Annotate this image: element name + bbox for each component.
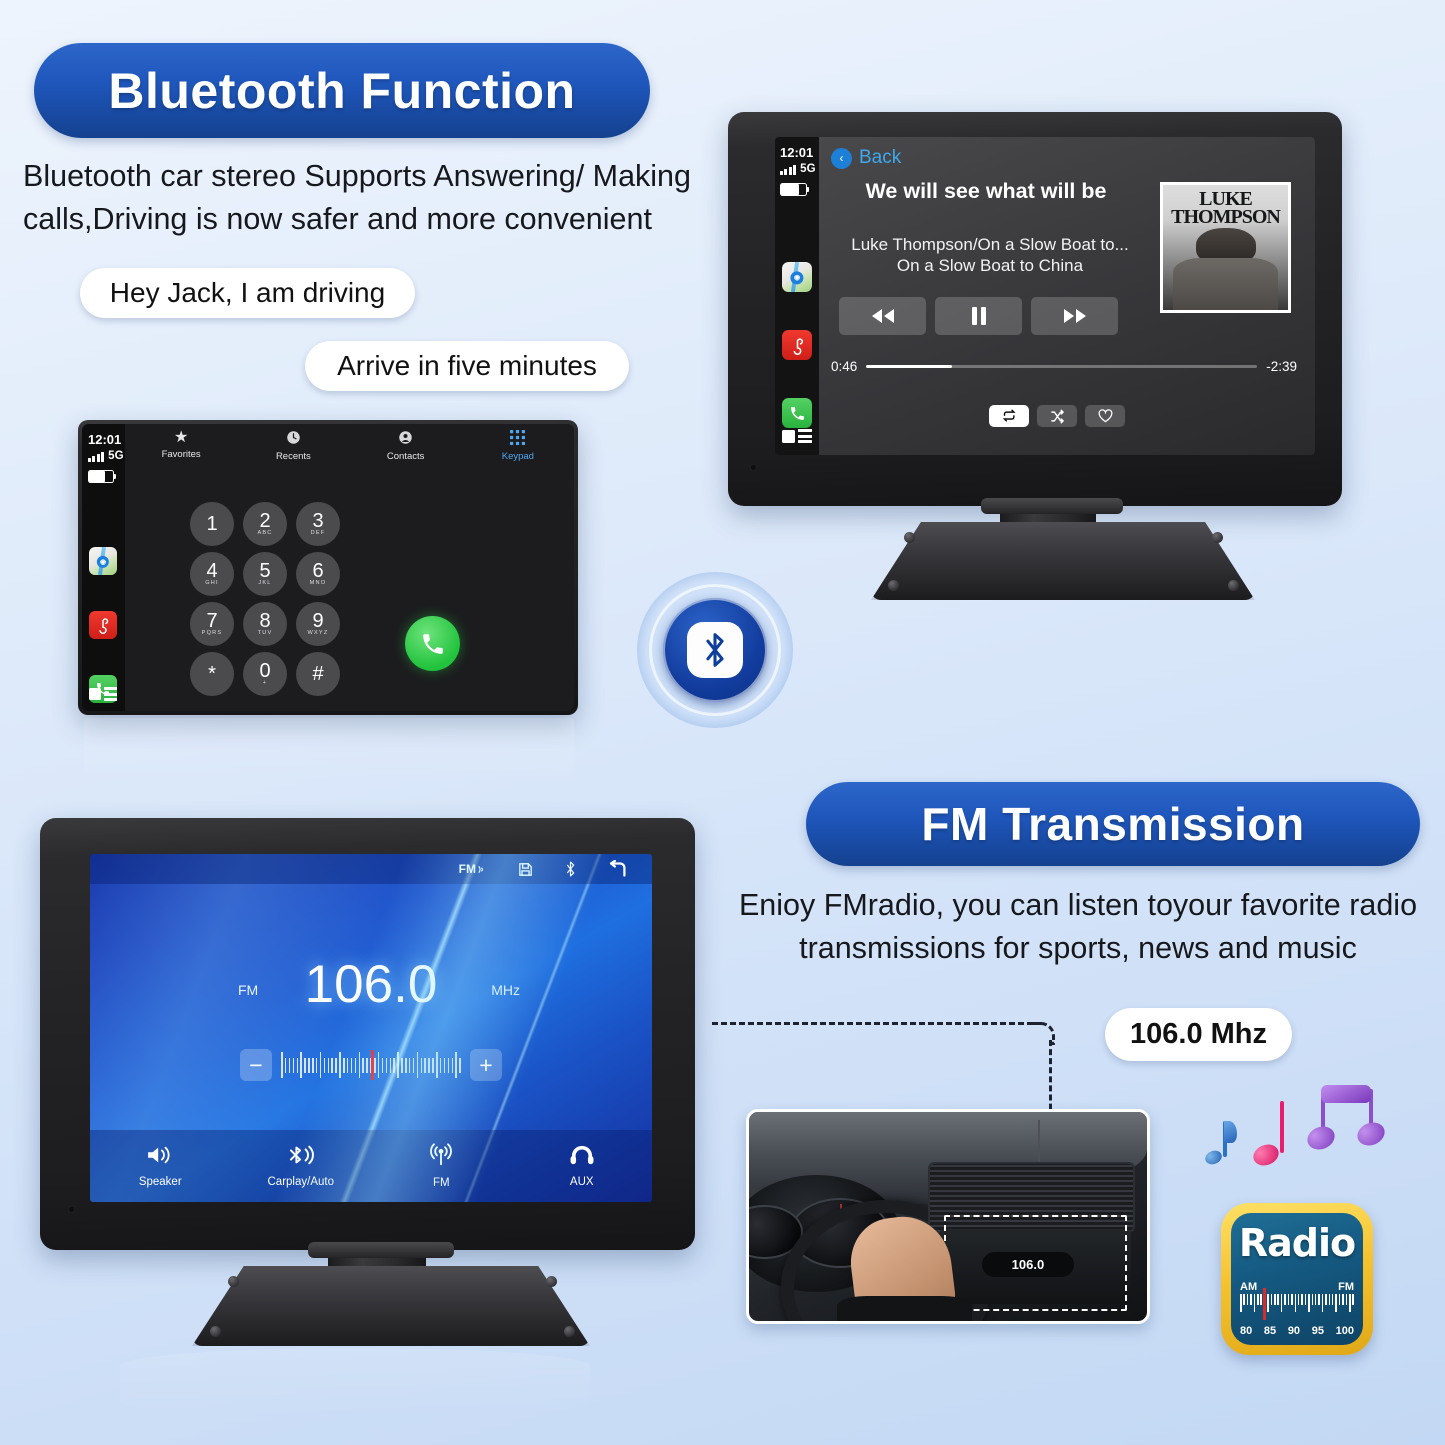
fm-section-title: FM Transmission [806, 782, 1420, 866]
dialpad-key-digit: 5 [259, 562, 270, 580]
radio-dial-tick [1257, 1294, 1259, 1305]
music-notes-decoration [1195, 1085, 1385, 1195]
fm-radio-device: FM 106.0 FM MHz − + [40, 818, 700, 1338]
track-subtitle-2: On a Slow Boat to China [825, 256, 1155, 276]
tuner-tick [328, 1058, 330, 1073]
tuner-tick [440, 1058, 442, 1073]
tab-favorites[interactable]: ★ Favorites [125, 430, 237, 462]
radio-dial-tick [1342, 1294, 1344, 1305]
now-playing-icon[interactable] [89, 687, 117, 701]
tuner-tick [405, 1058, 407, 1073]
dialpad-key-digit: 3 [312, 512, 323, 530]
clock-icon [286, 430, 301, 448]
tuner-tick [459, 1058, 461, 1073]
app-icon-netease-music[interactable] [782, 330, 812, 360]
tuner-tick [448, 1058, 450, 1073]
track-subtitle-1: Luke Thompson/On a Slow Boat to... [825, 235, 1155, 255]
progress-track[interactable] [866, 365, 1257, 368]
radio-dial-tick [1288, 1294, 1290, 1305]
monitor-hinge [981, 498, 1123, 514]
dialpad-key-letters: WXYZ [308, 630, 329, 636]
app-icon-maps[interactable]: ◉ [782, 262, 812, 292]
radio-dial-tick [1240, 1294, 1242, 1312]
network-label: 5G [800, 163, 815, 175]
tuner-tick [312, 1058, 314, 1073]
tuner-tick [393, 1058, 395, 1073]
radio-dial-tick [1267, 1294, 1269, 1312]
transport-controls [839, 297, 1118, 335]
tuner-tick [444, 1058, 446, 1073]
ir-sensor [750, 464, 757, 471]
fm-nav-fm[interactable]: FM [371, 1130, 512, 1202]
music-note-pink-icon [1247, 1101, 1299, 1173]
tuner-tick [289, 1058, 291, 1073]
radio-dial-tick [1281, 1294, 1283, 1312]
fast-forward-button[interactable] [1031, 297, 1118, 335]
monitor-base [192, 1266, 590, 1346]
ir-sensor [68, 1206, 75, 1213]
save-icon[interactable] [517, 861, 534, 878]
tuner-tick [359, 1052, 361, 1078]
tuner-tick [382, 1058, 384, 1073]
dialpad-key-0[interactable]: 0+ [243, 652, 287, 696]
radio-dial-tick [1315, 1294, 1317, 1305]
dialpad-key-3[interactable]: 3DEF [296, 502, 340, 546]
radio-dial-scale [1240, 1294, 1354, 1316]
radio-dial-tick [1339, 1294, 1341, 1305]
dialpad-key-hash[interactable]: # [296, 652, 340, 696]
tab-favorites-label: Favorites [162, 449, 201, 460]
fm-unit-label: MHz [491, 982, 520, 998]
back-arrow-icon[interactable] [607, 860, 628, 879]
tuner-tick [413, 1058, 415, 1073]
dialpad-key-5[interactable]: 5JKL [243, 552, 287, 596]
dialpad-key-1[interactable]: 1 [190, 502, 234, 546]
fm-title-text: FM Transmission [921, 797, 1304, 851]
tuner-tick [401, 1058, 403, 1073]
elapsed-time: 0:46 [831, 359, 857, 374]
radio-dial-tick [1295, 1294, 1297, 1312]
fm-nav-speaker-label: Speaker [139, 1176, 182, 1188]
radio-dial-tick [1274, 1294, 1276, 1305]
tab-recents[interactable]: Recents [237, 430, 349, 462]
radio-scale-number: 95 [1312, 1325, 1324, 1337]
radio-am-label: AM [1240, 1281, 1257, 1293]
tuner-tick [417, 1052, 419, 1078]
dialpad-key-letters: DEF [311, 530, 326, 536]
radio-dial-tick [1325, 1294, 1327, 1305]
radio-dial-tick [1277, 1294, 1279, 1305]
radio-scale-number: 100 [1336, 1325, 1354, 1337]
tuner-tick [308, 1058, 310, 1073]
keypad-device: 12:01 5G ◉ [78, 420, 578, 715]
tuner-tick [421, 1058, 423, 1073]
tuner-tick [366, 1058, 368, 1073]
tab-contacts[interactable]: Contacts [350, 430, 462, 462]
radio-dial-tick [1346, 1294, 1348, 1305]
rewind-button[interactable] [839, 297, 926, 335]
fm-monitor-reflection [120, 1348, 590, 1418]
tuner-tick [324, 1058, 326, 1073]
bluetooth-icon [687, 622, 743, 678]
app-icon-phone[interactable] [782, 398, 812, 428]
radio-scale-number: 85 [1264, 1325, 1276, 1337]
fm-tuner: − + [240, 1046, 502, 1084]
tuner-tick [409, 1058, 411, 1073]
dialpad-key-digit: 6 [312, 562, 323, 580]
radio-dial-tick [1301, 1294, 1303, 1305]
album-artist-name: LUKE THOMPSON [1163, 190, 1288, 227]
radio-dial-tick [1335, 1294, 1337, 1312]
tuner-tick [331, 1058, 333, 1073]
dialpad-key-4[interactable]: 4GHI [190, 552, 234, 596]
tuner-tick [386, 1058, 388, 1073]
repeat-button[interactable] [989, 405, 1029, 427]
radio-dial-tick [1352, 1294, 1354, 1305]
fm-nav-aux-label: AUX [570, 1176, 594, 1188]
keypad-tabbar: ★ Favorites Recents Contacts [125, 430, 574, 462]
dialpad-key-letters: PQRS [202, 630, 223, 636]
radio-scale-number: 90 [1288, 1325, 1300, 1337]
tuner-needle [371, 1050, 374, 1080]
fm-nav-speaker[interactable]: Speaker [90, 1130, 231, 1202]
tuner-tick [339, 1052, 341, 1078]
radio-dial-tick [1349, 1294, 1351, 1312]
tuner-tick [432, 1058, 434, 1073]
dialpad-key-letters: JKL [258, 580, 271, 586]
network-label: 5G [108, 450, 123, 462]
bluetooth-badge [637, 572, 793, 728]
tuner-tick [316, 1058, 318, 1073]
car-dashboard-photo: 106.0 [746, 1109, 1150, 1324]
radio-dial-tick [1291, 1294, 1293, 1305]
fm-nav-fm-label: FM [433, 1177, 450, 1189]
carplay-keypad-ui: 12:01 5G ◉ [82, 424, 574, 711]
dialpad-key-8[interactable]: 8TUV [243, 602, 287, 646]
tuner-tick [320, 1052, 322, 1078]
tab-contacts-label: Contacts [387, 451, 425, 462]
tab-keypad-label: Keypad [502, 451, 534, 462]
dialpad-key-6[interactable]: 6MNO [296, 552, 340, 596]
carplay-player-device: 12:01 5G ◉ [728, 112, 1370, 612]
highlight-box [944, 1215, 1127, 1311]
radio-scale-numbers: 80859095100 [1240, 1325, 1354, 1337]
connector-line-horizontal [712, 1022, 1042, 1025]
call-button[interactable] [405, 616, 460, 671]
dialpad-key-7[interactable]: 7PQRS [190, 602, 234, 646]
radio-dial-tick [1298, 1294, 1300, 1305]
music-note-blue-icon [1201, 1121, 1235, 1167]
chevron-left-icon: ‹ [831, 148, 852, 169]
album-artwork: LUKE THOMPSON [1160, 182, 1291, 313]
dialpad-key-letters: TUV [258, 630, 273, 636]
radio-dial-tick [1271, 1294, 1273, 1305]
tuner-tick [378, 1052, 380, 1078]
fm-radio-ui: FM 106.0 FM MHz − + [90, 854, 652, 1202]
remaining-time: -2:39 [1266, 359, 1297, 374]
fm-plus-button[interactable]: + [470, 1049, 502, 1081]
tuner-tick [335, 1058, 337, 1073]
tuner-tick [455, 1052, 457, 1078]
star-icon: ★ [174, 430, 188, 446]
tuner-tick [343, 1058, 345, 1073]
tuner-tick [390, 1058, 392, 1073]
tuner-tick [452, 1058, 454, 1073]
dialpad-key-digit: 2 [259, 512, 270, 530]
fm-antenna-icon [429, 1143, 453, 1172]
battery-icon [780, 183, 807, 196]
fm-band-label: FM [238, 982, 258, 998]
fm-nav-carplay[interactable]: Carplay/Auto [231, 1130, 372, 1202]
carplay-player-ui: 12:01 5G ◉ [775, 137, 1315, 455]
tuner-tick [428, 1058, 430, 1073]
player-options [989, 405, 1125, 427]
radio-dial-tick [1322, 1294, 1324, 1312]
radio-dial-tick [1260, 1294, 1262, 1305]
dialpad: 12ABC3DEF4GHI5JKL6MNO7PQRS8TUV9WXYZ*0+# [190, 502, 340, 696]
fm-screen: FM 106.0 FM MHz − + [90, 854, 652, 1202]
dialpad-key-digit: 9 [312, 612, 323, 630]
heart-button[interactable] [1085, 405, 1125, 427]
radio-dial-tick [1318, 1294, 1320, 1305]
radio-dial-tick [1243, 1294, 1245, 1305]
pause-button[interactable] [935, 297, 1022, 335]
fm-frequency-value: 106.0 [90, 954, 652, 1015]
speaker-icon [146, 1144, 174, 1171]
shuffle-button[interactable] [1037, 405, 1077, 427]
tab-recents-label: Recents [276, 451, 311, 462]
chat-bubble-driving: Hey Jack, I am driving [80, 268, 415, 318]
monitor-base [871, 522, 1255, 600]
dialpad-key-digit: 4 [206, 562, 217, 580]
tuner-tick [300, 1052, 302, 1078]
back-button[interactable]: ‹ Back [831, 147, 901, 169]
bluetooth-wave-icon [286, 1144, 316, 1171]
signal-bars-icon [88, 452, 104, 462]
radio-dial-tick [1284, 1294, 1286, 1305]
radio-dial-tick [1250, 1294, 1252, 1305]
tuner-tick [304, 1058, 306, 1073]
radio-dial-needle [1263, 1288, 1266, 1320]
app-icon-netease-music[interactable] [89, 611, 117, 639]
radio-dial-tick [1254, 1294, 1256, 1312]
dialpad-key-9[interactable]: 9WXYZ [296, 602, 340, 646]
grid-icon [510, 430, 525, 448]
progress-bar[interactable]: 0:46 -2:39 [831, 359, 1297, 374]
dialpad-key-letters: GHI [205, 580, 219, 586]
fm-minus-button[interactable]: − [240, 1049, 272, 1081]
tab-keypad[interactable]: Keypad [462, 430, 574, 462]
tuner-tick [374, 1058, 376, 1073]
dialpad-key-digit: 0 [259, 662, 270, 680]
bluetooth-section-title: Bluetooth Function [34, 43, 650, 138]
bluetooth-icon[interactable] [564, 860, 577, 878]
radio-logo-text: Radio [1239, 1221, 1355, 1265]
dialpad-key-letters: MNO [310, 580, 327, 586]
radio-dial-tick [1305, 1294, 1307, 1305]
player-screen: 12:01 5G ◉ [775, 137, 1315, 455]
signal-bars-icon [780, 165, 796, 175]
tuner-tick [293, 1058, 295, 1073]
dialpad-key-digit: 7 [206, 612, 217, 630]
dialpad-key-digit: 8 [259, 612, 270, 630]
now-playing-icon[interactable] [782, 429, 812, 443]
fm-nav-carplay-label: Carplay/Auto [268, 1176, 334, 1188]
tuner-tick [347, 1058, 349, 1073]
fm-nav-aux[interactable]: AUX [512, 1130, 653, 1202]
bluetooth-title-text: Bluetooth Function [108, 62, 575, 120]
tuner-tick [281, 1052, 283, 1078]
tuner-tick [424, 1058, 426, 1073]
fm-bottom-bar: Speaker Carplay/Auto FM [90, 1130, 652, 1202]
dialpad-key-star[interactable]: * [190, 652, 234, 696]
keypad-screen: 12:01 5G ◉ [82, 424, 574, 711]
keypad-reflection [84, 718, 574, 784]
monitor-hinge [308, 1242, 454, 1258]
dialpad-key-digit: * [208, 665, 216, 683]
bluetooth-description: Bluetooth car stereo Supports Answering/… [23, 155, 723, 242]
status-time: 12:01 [780, 145, 813, 160]
fm-description: Enioy FMradio, you can listen toyour fav… [728, 884, 1428, 971]
tuner-tick [355, 1058, 357, 1073]
tuner-tick [362, 1058, 364, 1073]
chat-bubble-arrive: Arrive in five minutes [305, 341, 629, 391]
fm-tuning-scale[interactable] [281, 1046, 461, 1084]
app-icon-maps[interactable]: ◉ [89, 547, 117, 575]
radio-dial-tick [1312, 1294, 1314, 1305]
headphone-icon [569, 1144, 595, 1171]
tuner-tick [297, 1058, 299, 1073]
status-time: 12:01 [88, 432, 121, 447]
back-label: Back [859, 147, 901, 169]
radio-logo-badge: Radio AM FM 80859095100 [1221, 1203, 1373, 1355]
track-title: We will see what will be [831, 179, 1141, 203]
dialpad-key-digit: 1 [206, 515, 217, 533]
tuner-tick [397, 1052, 399, 1078]
radio-dial-tick [1247, 1294, 1249, 1305]
dialpad-key-letters: ABC [257, 530, 272, 536]
carplay-sidebar-player: 12:01 5G ◉ [775, 137, 819, 455]
radio-scale-number: 80 [1240, 1325, 1252, 1337]
battery-icon [88, 470, 114, 483]
radio-dial-tick [1308, 1294, 1310, 1312]
fm-topbar: FM [90, 854, 652, 884]
dialpad-key-digit: # [312, 665, 323, 683]
radio-fm-label: FM [1338, 1281, 1354, 1293]
person-icon [398, 430, 413, 448]
tuner-tick [351, 1058, 353, 1073]
bluetooth-badge-core [663, 598, 767, 702]
radio-dial-tick [1332, 1294, 1334, 1305]
fm-broadcast-icon[interactable]: FM [459, 862, 487, 876]
carplay-sidebar: 12:01 5G ◉ [82, 424, 125, 711]
frequency-callout: 106.0 Mhz [1105, 1008, 1292, 1061]
music-note-purple-icon [1313, 1085, 1389, 1155]
tuner-tick [436, 1052, 438, 1078]
tuner-tick [285, 1058, 287, 1073]
dialpad-key-2[interactable]: 2ABC [243, 502, 287, 546]
dialpad-key-letters: + [263, 680, 267, 686]
radio-dial-tick [1329, 1294, 1331, 1305]
tuner-tick [370, 1058, 372, 1073]
